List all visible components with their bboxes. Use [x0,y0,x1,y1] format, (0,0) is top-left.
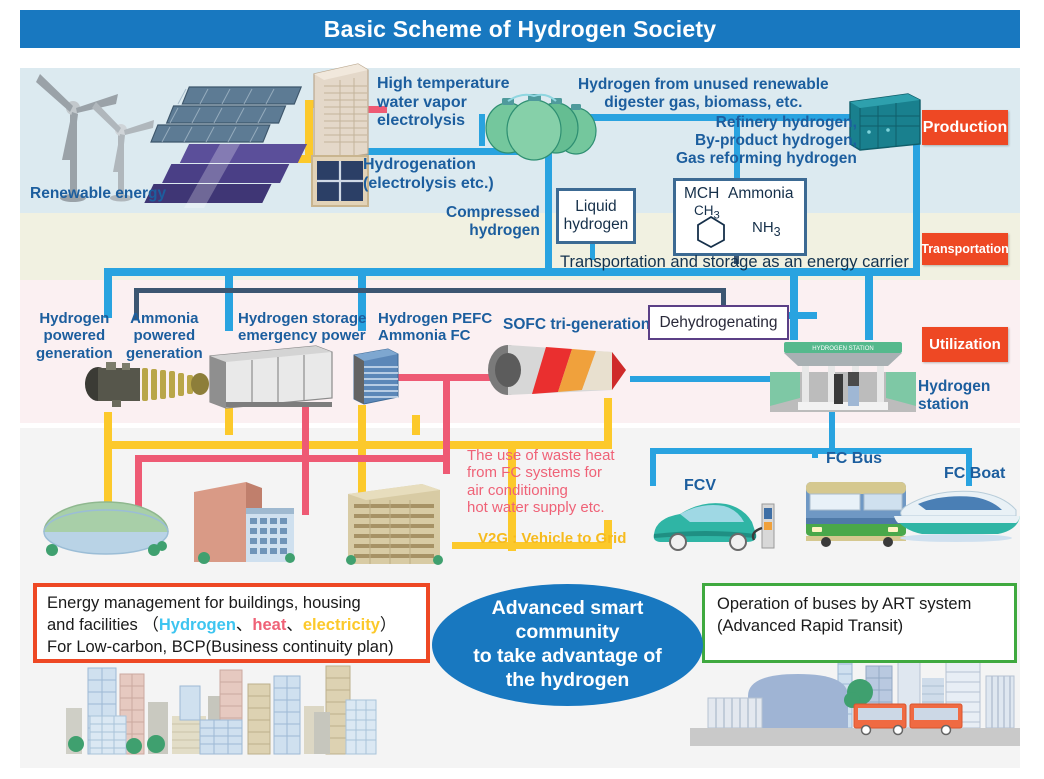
energy-mgmt-sep2: 、 [286,616,303,634]
pipe-heat-v3 [443,398,450,458]
sofc-trigeneration-icon [486,340,634,402]
pipe-elec-v4 [412,415,420,435]
badge-production[interactable]: Production [922,110,1008,145]
label-fcv: FCV [684,477,716,496]
box-art-system: Operation of buses by ART system (Advanc… [702,583,1017,663]
energy-management-line2: and facilities （Hydrogen、heat、electricit… [47,615,416,637]
fuel-cell-unit-icon [352,345,400,407]
pipe-fcbus-branch [812,448,818,458]
label-ammonia-powered-generation: Ammonia powered generation [126,310,203,362]
hydrogen-station-icon: HYDROGEN STATION [770,336,916,416]
label-fc-boat: FC Boat [944,465,1005,484]
label-mch: MCH [684,185,719,203]
office-buildings-icon [190,478,296,564]
box-mch-ammonia: MCH Ammonia CH3 NH3 [673,178,807,256]
pipe-branch-station-2 [865,268,873,340]
hydrogen-station-sign-text: HYDROGEN STATION [812,346,873,352]
art-system-line1: Operation of buses by ART system [717,594,1002,616]
label-unused-renewable: Hydrogen from unused renewable digester … [578,76,829,112]
label-sofc: SOFC tri-generation [503,316,650,334]
label-refinery-hydrogen: Refinery hydrogen, By-product hydrogen, … [676,114,857,168]
dome-facility-icon [42,498,170,558]
box-liquid-hydrogen: Liquid hydrogen [556,188,636,244]
gas-turbine-icon [82,360,212,408]
box-liquid-hydrogen-text: Liquid hydrogen [564,198,629,234]
label-renewable-energy: Renewable energy [30,185,166,203]
label-compressed-hydrogen: Compressed hydrogen [446,204,540,240]
ellipse-smart-community-text: Advanced smart community to take advanta… [473,597,662,692]
label-hydrogen-powered-generation: Hydrogen powered generation [36,310,113,362]
pipe-fcv-branch [650,448,656,486]
reforming-plant-icon [848,92,922,152]
fcv-car-icon [646,492,776,550]
benzene-ring-icon [696,215,726,248]
page-title: Basic Scheme of Hydrogen Society [324,16,716,43]
box-energy-management: Energy management for buildings, housing… [33,583,430,663]
apartment-block-icon [344,478,444,566]
label-hydrogenation: Hydrogenation (electrolysis etc.) [363,156,494,193]
badge-utilization[interactable]: Utilization [922,327,1008,362]
high-temp-electrolysis-unit-icon [310,62,372,162]
pipe-vehicles-bus [650,448,972,454]
energy-mgmt-l2-pre: and facilities （ [47,616,159,634]
label-high-temp-electrolysis: High temperature water vapor electrolysi… [377,75,509,131]
pipe-elec-sofc [604,398,612,446]
label-fc-bus: FC Bus [826,450,882,469]
hydrogen-storage-containers-icon [208,340,334,410]
fc-boat-icon [892,490,1022,542]
ellipse-smart-community: Advanced smart community to take advanta… [432,584,703,706]
energy-mgmt-heat: heat [252,616,286,634]
pipe-carrier-dehydro [721,288,726,306]
label-carrier-note: Transportation and storage as an energy … [560,253,909,272]
pipe-sofc-to-station [630,376,792,382]
box-dehydrogenating: Dehydrogenating [648,305,789,340]
pipe-station-to-vehicles [829,412,835,450]
art-system-line2: (Advanced Rapid Transit) [717,616,1002,638]
pipe-branch-station [790,268,798,340]
label-hydrogen-pefc: Hydrogen PEFC Ammonia FC [378,310,492,345]
label-v2g: V2G : Vehicle to Grid [478,530,626,547]
pipe-carrier-bus [134,288,726,293]
label-waste-heat: The use of waste heat from FC systems fo… [467,447,615,517]
infographic-canvas: Basic Scheme of Hydrogen Society [0,0,1044,779]
pipe-branch-storage [225,268,233,331]
energy-mgmt-sep1: 、 [236,616,253,634]
energy-mgmt-hydrogen: Hydrogen [159,616,236,634]
art-city-buses-icon [690,652,1020,757]
badge-transportation[interactable]: Transportation [922,233,1008,265]
label-hydrogen-storage: Hydrogen storage emergency power [238,310,366,345]
box-dehydrogenating-text: Dehydrogenating [659,314,777,332]
city-skyline-icon [60,660,380,760]
pipe-dehydro-out [785,312,817,319]
energy-management-line1: Energy management for buildings, housing [47,593,416,615]
pipe-heat-bus [135,455,450,462]
energy-management-line3: For Low-carbon, BCP(Business continuity … [47,637,416,659]
energy-mgmt-electricity: electricity [303,616,380,634]
title-bar: Basic Scheme of Hydrogen Society [20,10,1020,48]
wind-turbines-icon [22,68,147,203]
label-nh3: NH3 [752,219,781,239]
energy-mgmt-l2-post: ） [380,616,397,634]
label-hydrogen-station: Hydrogen station [918,378,990,414]
label-ammonia: Ammonia [728,185,793,203]
